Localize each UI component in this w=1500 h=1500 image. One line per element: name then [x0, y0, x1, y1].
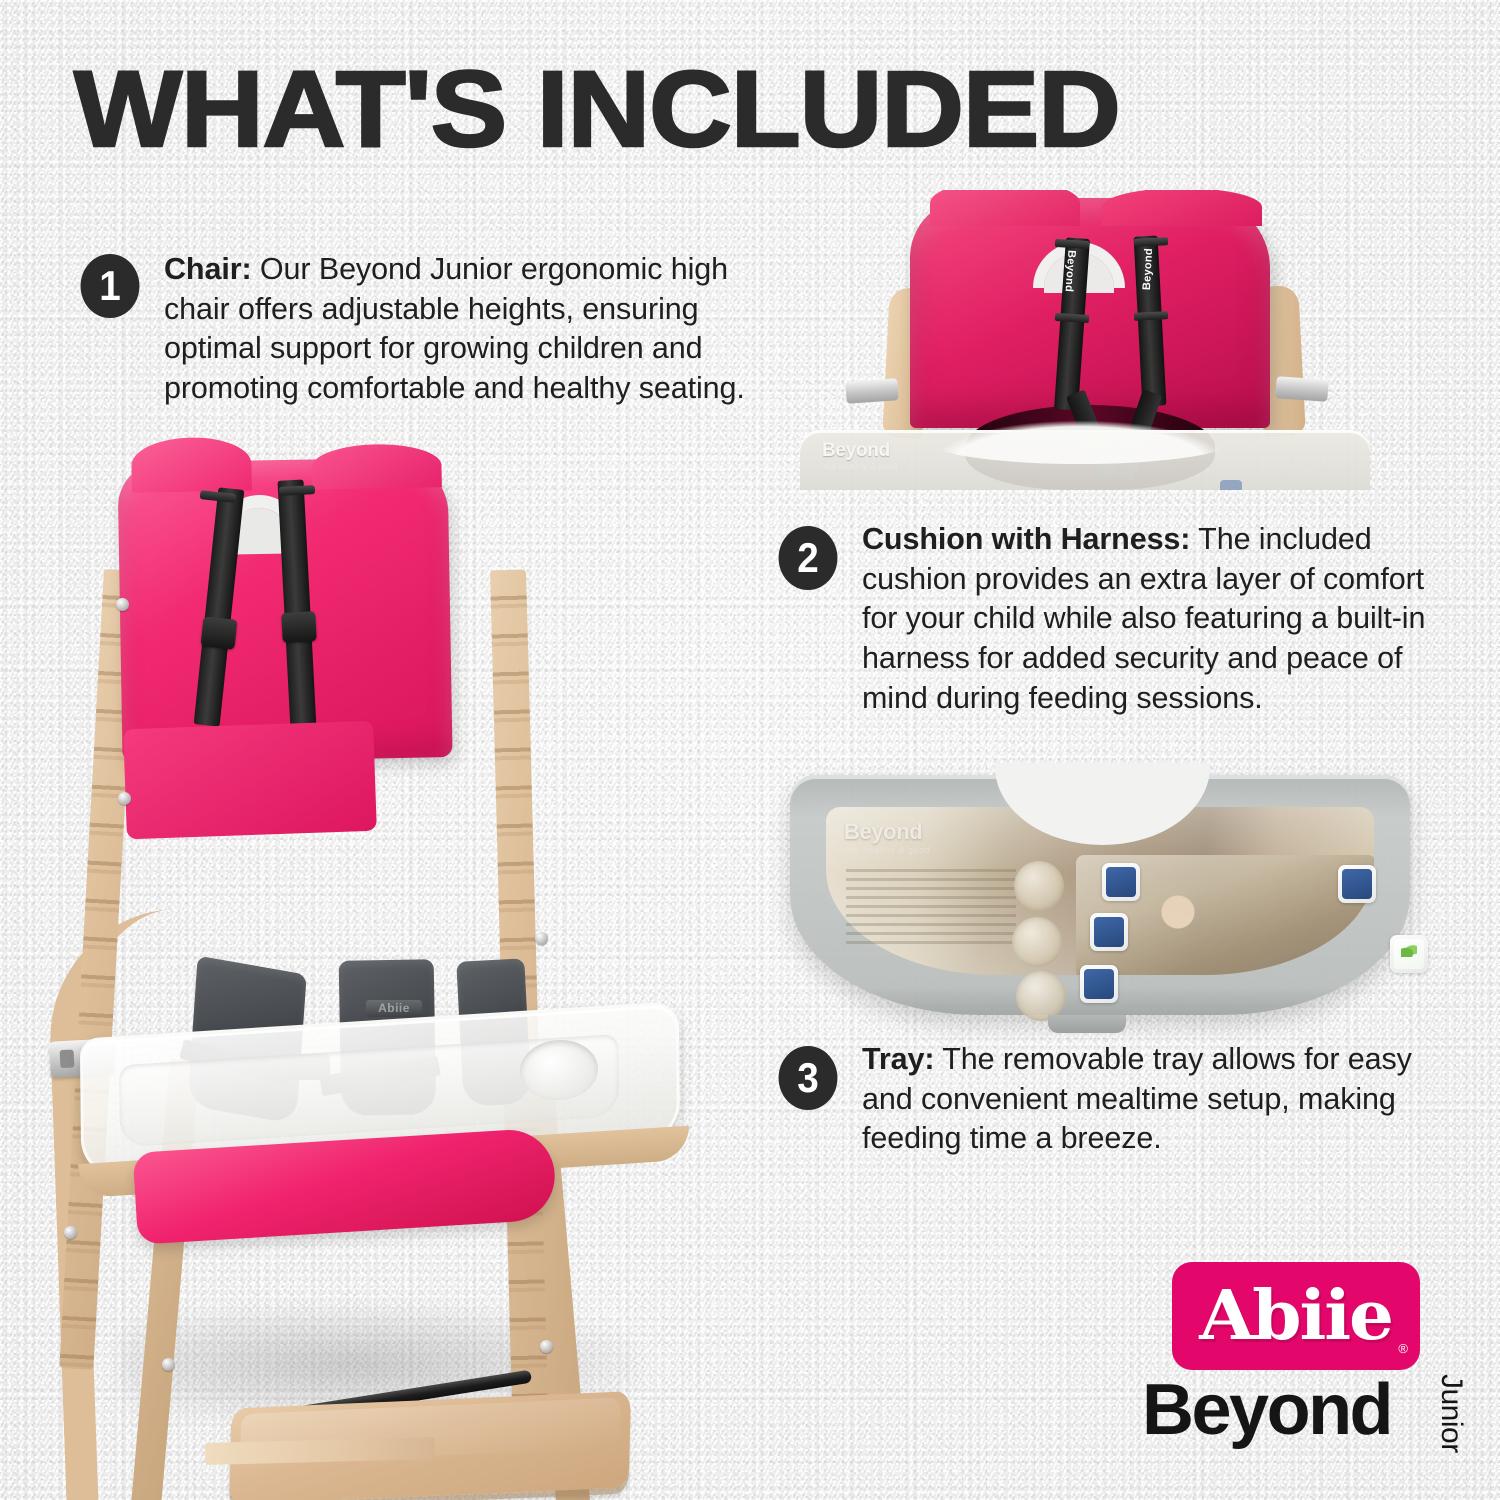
feature-body-tray: The removable tray allows for easy and c…: [862, 1042, 1412, 1155]
tray-photo-insert-paragraph: [846, 869, 1016, 949]
cushion-photo-tray-badge: [1220, 480, 1242, 490]
chair-screw: [162, 1358, 175, 1371]
tray-photo-icon-washable: [1102, 863, 1140, 901]
chair-cushion-seat-pad: [123, 721, 377, 840]
number-badge-3: 3: [779, 1046, 838, 1110]
feature-heading-chair: Chair:: [164, 252, 252, 286]
feature-item-chair: 1 Chair: Our Beyond Junior ergonomic hig…: [78, 250, 768, 409]
cushion-photo-bracket-right: [1275, 376, 1328, 402]
logo-registered-mark: ®: [1398, 1341, 1408, 1356]
tray-photo-insert-tagline: the healthy & good: [846, 845, 930, 855]
cushion-photo-backrest: [910, 198, 1270, 428]
tray-photo-insert-logo: Beyond: [844, 819, 922, 845]
cushion-photo-tray-tagline: the healthy & good: [824, 462, 898, 471]
feature-text-tray: Tray: The removable tray allows for easy…: [862, 1040, 1466, 1159]
feature-heading-cushion: Cushion with Harness:: [862, 522, 1190, 556]
tray-photo-icon-adjustable: [1090, 913, 1128, 951]
brand-logo: Abiie ® Beyond Junior: [1136, 1262, 1466, 1467]
cushion-photo-bracket-left: [845, 378, 898, 404]
product-photo-cushion-harness: Beyond Beyond Beyond the healthy & good: [790, 190, 1460, 490]
infographic-page: WHAT'S INCLUDED 1 Chair: Our Beyond Juni…: [0, 0, 1500, 1500]
cushion-photo-tray-logo: Beyond: [822, 440, 890, 462]
feature-item-cushion: 2 Cushion with Harness: The included cus…: [776, 520, 1466, 718]
tray-photo-icon-eco-friendly: [1390, 935, 1428, 973]
feature-text-cushion: Cushion with Harness: The included cushi…: [862, 520, 1466, 718]
chair-harness-emboss-label: Abiie: [366, 1000, 422, 1017]
feature-heading-tray: Tray:: [862, 1042, 934, 1076]
tray-photo-insert-thumb: [1016, 971, 1066, 1021]
logo-product-text: Beyond: [1142, 1374, 1391, 1446]
chair-screw: [118, 792, 131, 805]
chair-screw: [64, 1226, 77, 1239]
chair-harness-buckle-right: [281, 611, 317, 643]
feature-item-tray: 3 Tray: The removable tray allows for ea…: [776, 1040, 1466, 1159]
product-photo-high-chair: Abiie: [20, 440, 700, 1500]
chair-harness-buckle-left: [201, 616, 238, 649]
number-badge-1: 1: [81, 254, 140, 318]
tray-photo-icon-easy-clean: [1338, 865, 1376, 903]
feature-body-chair: Our Beyond Junior ergonomic high chair o…: [164, 252, 745, 405]
chair-screw: [540, 1340, 553, 1353]
number-badge-2: 2: [779, 526, 838, 590]
logo-tier-text: Junior: [1434, 1374, 1468, 1453]
tray-photo-release-tab: [1048, 1015, 1126, 1033]
feature-text-chair: Chair: Our Beyond Junior ergonomic high …: [164, 250, 768, 409]
logo-brand-text: Abiie: [1200, 1282, 1393, 1350]
product-photo-tray: Beyond the healthy & good: [790, 765, 1430, 1045]
tray-photo-insert-thumb: [1014, 861, 1064, 911]
tray-photo-icon-temperature: [1080, 965, 1118, 1003]
chair-screw: [535, 932, 548, 945]
tray-photo-insert-thumb: [1012, 917, 1062, 967]
logo-pill-background: Abiie ®: [1172, 1262, 1420, 1370]
chair-harness-loop-right: [279, 485, 315, 496]
page-title: WHAT'S INCLUDED: [74, 55, 1120, 163]
chair-screw: [116, 598, 129, 611]
cushion-photo-strap-label-right: Beyond: [1141, 248, 1155, 291]
